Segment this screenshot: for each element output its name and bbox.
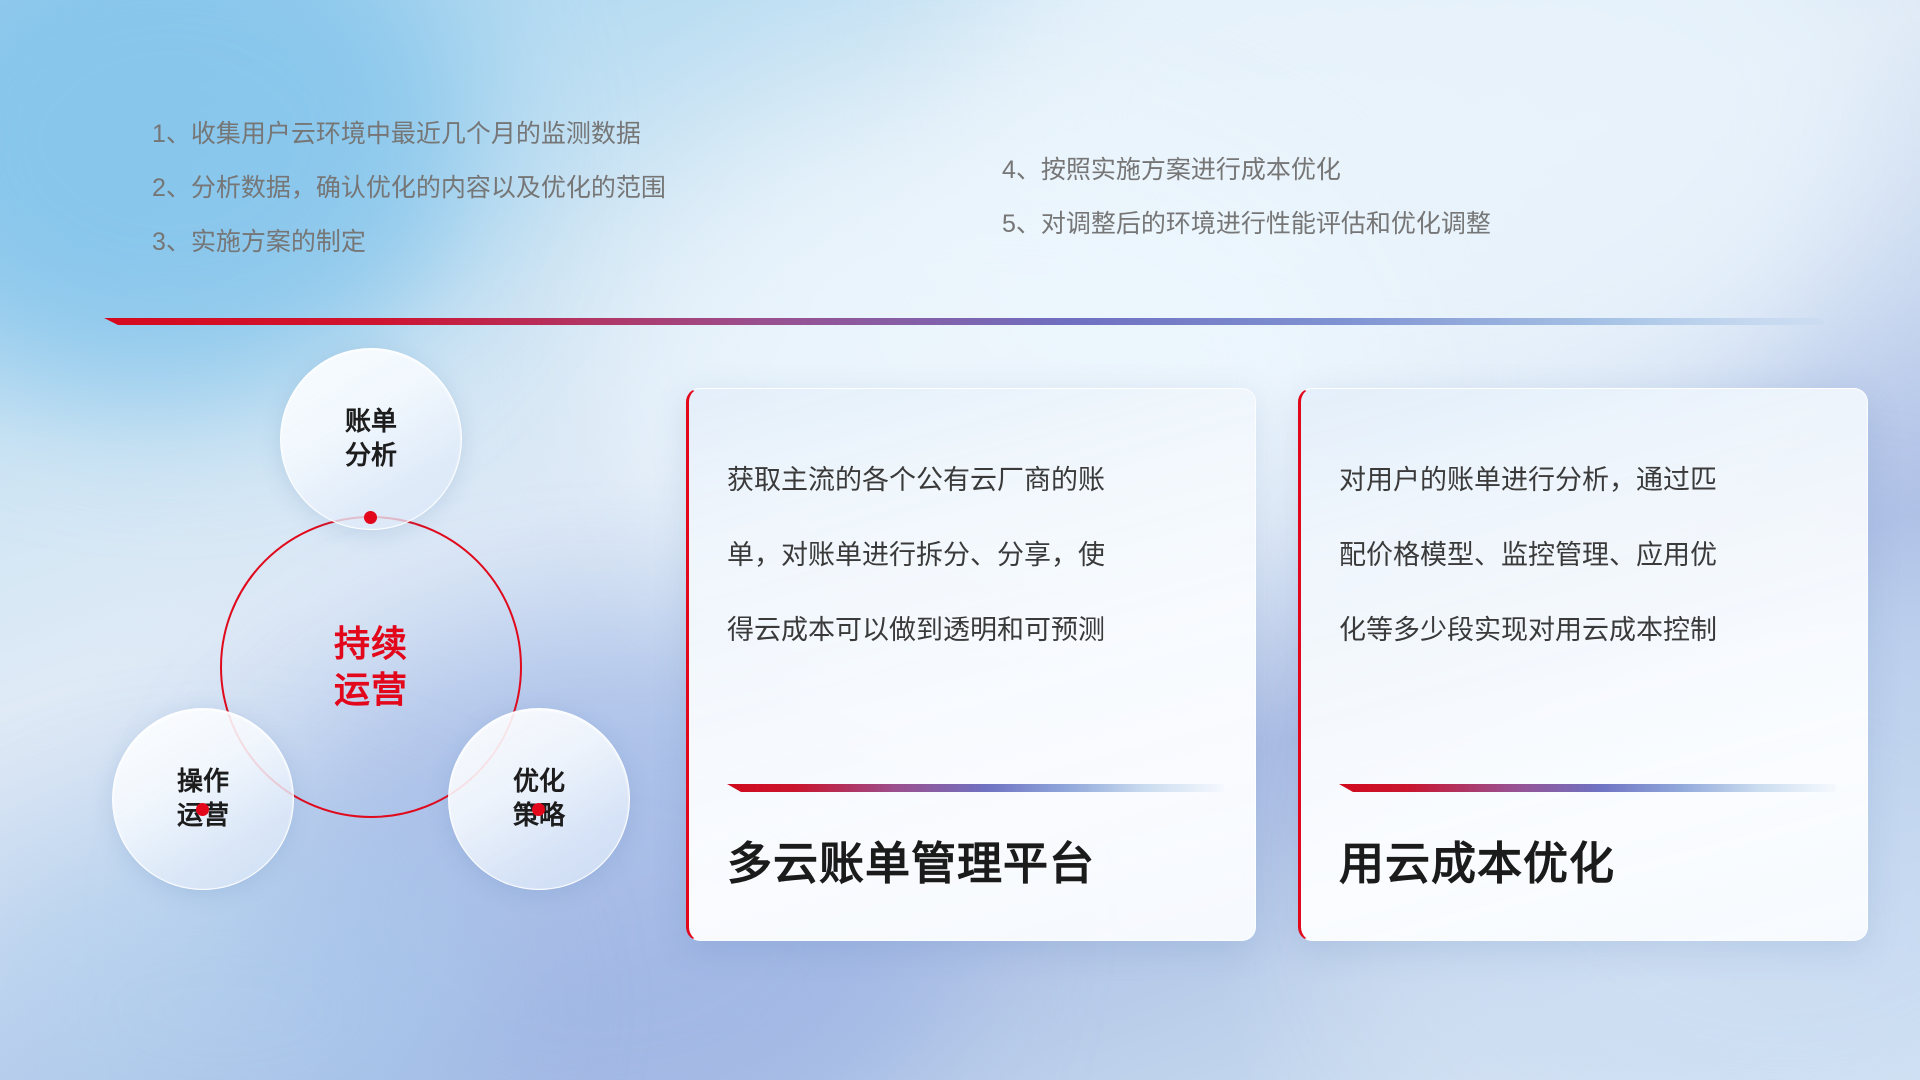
card-body-line: 配价格模型、监控管理、应用优	[1339, 542, 1837, 569]
section-divider	[104, 318, 1824, 325]
card-divider	[727, 784, 1225, 792]
node-dot-icon	[364, 511, 377, 524]
center-label-line2: 运营	[334, 667, 408, 713]
feature-card-cloud-cost-optimization[interactable]: 对用户的账单进行分析，通过匹 配价格模型、监控管理、应用优 化等多少段实现对用云…	[1298, 388, 1868, 941]
card-title: 用云成本优化	[1339, 827, 1615, 892]
slide-canvas: 1、收集用户云环境中最近几个月的监测数据 2、分析数据，确认优化的内容以及优化的…	[0, 0, 1920, 1080]
card-body-line: 单，对账单进行拆分、分享，使	[727, 542, 1225, 569]
card-body: 获取主流的各个公有云厂商的账 单，对账单进行拆分、分享，使 得云成本可以做到透明…	[727, 467, 1225, 692]
card-body-line: 化等多少段实现对用云成本控制	[1339, 617, 1837, 644]
card-body-line: 得云成本可以做到透明和可预测	[727, 617, 1225, 644]
list-item: 2、分析数据，确认优化的内容以及优化的范围	[152, 176, 666, 201]
bubble-label-line2: 分析	[345, 439, 397, 473]
card-title: 多云账单管理平台	[727, 827, 1095, 892]
list-item: 5、对调整后的环境进行性能评估和优化调整	[1002, 212, 1491, 237]
card-body-line: 对用户的账单进行分析，通过匹	[1339, 467, 1837, 494]
center-label-line1: 持续	[334, 621, 408, 667]
list-item: 1、收集用户云环境中最近几个月的监测数据	[152, 122, 666, 147]
center-label: 持续 运营	[220, 516, 522, 818]
card-divider	[1339, 784, 1837, 792]
list-item: 4、按照实施方案进行成本优化	[1002, 158, 1491, 183]
steps-list-right: 4、按照实施方案进行成本优化 5、对调整后的环境进行性能评估和优化调整	[1002, 158, 1491, 266]
list-item: 3、实施方案的制定	[152, 230, 666, 255]
node-dot-icon	[532, 803, 545, 816]
diagram-bubble-billing-analysis[interactable]: 账单 分析	[280, 348, 462, 530]
continuous-operations-diagram: 持续 运营 账单 分析 操作 运营 优化 策略	[96, 348, 636, 948]
card-body-line: 获取主流的各个公有云厂商的账	[727, 467, 1225, 494]
bubble-label-line1: 账单	[345, 405, 397, 439]
node-dot-icon	[196, 803, 209, 816]
card-body: 对用户的账单进行分析，通过匹 配价格模型、监控管理、应用优 化等多少段实现对用云…	[1339, 467, 1837, 692]
steps-list-left: 1、收集用户云环境中最近几个月的监测数据 2、分析数据，确认优化的内容以及优化的…	[152, 122, 666, 284]
feature-card-multicloud-billing[interactable]: 获取主流的各个公有云厂商的账 单，对账单进行拆分、分享，使 得云成本可以做到透明…	[686, 388, 1256, 941]
